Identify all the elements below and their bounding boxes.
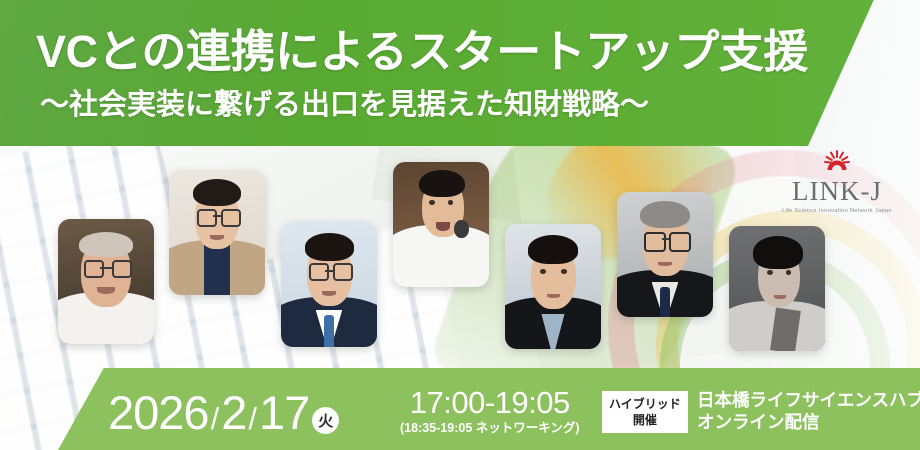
portrait-3-hair bbox=[305, 233, 354, 261]
portrait-5-hair bbox=[528, 235, 578, 264]
event-date-separator-2: / bbox=[248, 405, 257, 434]
speaker-portrait-2 bbox=[169, 170, 265, 295]
speaker-portrait-5 bbox=[505, 224, 601, 349]
portrait-6-backdrop bbox=[617, 192, 713, 317]
event-date: 2026 / 2 / 17 火 bbox=[108, 391, 339, 437]
event-time: 17:00-19:05 (18:35-19:05 ネットワーキング) bbox=[400, 387, 580, 436]
portrait-2-backdrop bbox=[169, 170, 265, 295]
portrait-1-glasses-left bbox=[84, 260, 104, 278]
portrait-2-glasses-left bbox=[197, 209, 217, 227]
event-banner: VCとの連携によるスタートアップ支援 〜社会実装に繋げる出口を見据えた知財戦略〜… bbox=[0, 0, 920, 450]
status-badge-line2: 開催 bbox=[609, 412, 681, 428]
event-time-main: 17:00-19:05 bbox=[400, 387, 580, 420]
event-time-note: (18:35-19:05 ネットワーキング) bbox=[400, 421, 580, 436]
event-date-month: 2 bbox=[221, 391, 246, 434]
portrait-4-backdrop bbox=[393, 162, 489, 287]
portrait-6-glasses-bridge bbox=[662, 238, 669, 240]
speaker-portrait-3 bbox=[281, 222, 377, 347]
speaker-portrait-6 bbox=[617, 192, 713, 317]
portrait-4-mouth bbox=[436, 222, 449, 231]
speaker-portrait-1 bbox=[58, 219, 154, 344]
portrait-3-glasses-left bbox=[309, 263, 329, 281]
portrait-1-mouth bbox=[97, 287, 114, 295]
portrait-3-mouth bbox=[322, 291, 335, 296]
portrait-1-glasses-right bbox=[112, 260, 132, 278]
event-venue-line1: 日本橋ライフサイエンスハブ bbox=[697, 389, 920, 412]
portrait-3-tie bbox=[324, 315, 334, 348]
portrait-6-mouth bbox=[658, 262, 671, 266]
portrait-1-backdrop bbox=[58, 219, 154, 344]
portrait-2-hair bbox=[193, 179, 241, 207]
status-badge-line1: ハイブリッド bbox=[609, 396, 681, 412]
event-date-separator-1: / bbox=[211, 405, 220, 434]
portrait-6-hair bbox=[640, 201, 690, 229]
portrait-7-hair bbox=[753, 236, 803, 269]
speaker-portrait-7 bbox=[729, 226, 825, 351]
event-date-year: 2026 bbox=[108, 391, 209, 434]
portrait-2-shirt bbox=[204, 245, 231, 295]
portrait-5-mouth bbox=[547, 294, 559, 298]
portrait-7-eye-left bbox=[767, 270, 773, 275]
portrait-7-eye-right bbox=[786, 270, 792, 275]
portrait-1-glasses-bridge bbox=[100, 267, 112, 269]
portrait-3-glasses-right bbox=[333, 263, 353, 281]
event-venue: 日本橋ライフサイエンスハブ オンライン配信 bbox=[697, 389, 920, 435]
portrait-3-backdrop bbox=[281, 222, 377, 347]
portrait-6-glasses-left bbox=[644, 232, 666, 252]
portrait-5-backdrop bbox=[505, 224, 601, 349]
microphone-icon bbox=[454, 220, 468, 239]
event-date-dayofweek-badge: 火 bbox=[312, 407, 339, 434]
portrait-3-glasses-bridge bbox=[325, 270, 333, 272]
portrait-6-glasses-right bbox=[669, 232, 691, 252]
portrait-7-mouth bbox=[774, 295, 786, 299]
event-date-day: 17 bbox=[259, 391, 309, 434]
portrait-4-hair bbox=[419, 170, 465, 198]
portrait-2-mouth bbox=[210, 235, 223, 240]
portrait-6-tie bbox=[660, 287, 670, 317]
portrait-1-hair bbox=[79, 232, 133, 257]
status-badge: ハイブリッド 開催 bbox=[602, 391, 688, 433]
portrait-7-backdrop bbox=[729, 226, 825, 351]
portrait-2-glasses-right bbox=[221, 209, 241, 227]
event-venue-line2: オンライン配信 bbox=[697, 411, 920, 434]
portrait-2-glasses-bridge bbox=[213, 215, 221, 217]
speaker-portrait-4 bbox=[393, 162, 489, 287]
portrait-4-eye-right bbox=[448, 200, 454, 205]
portrait-4-eye-left bbox=[429, 200, 435, 205]
